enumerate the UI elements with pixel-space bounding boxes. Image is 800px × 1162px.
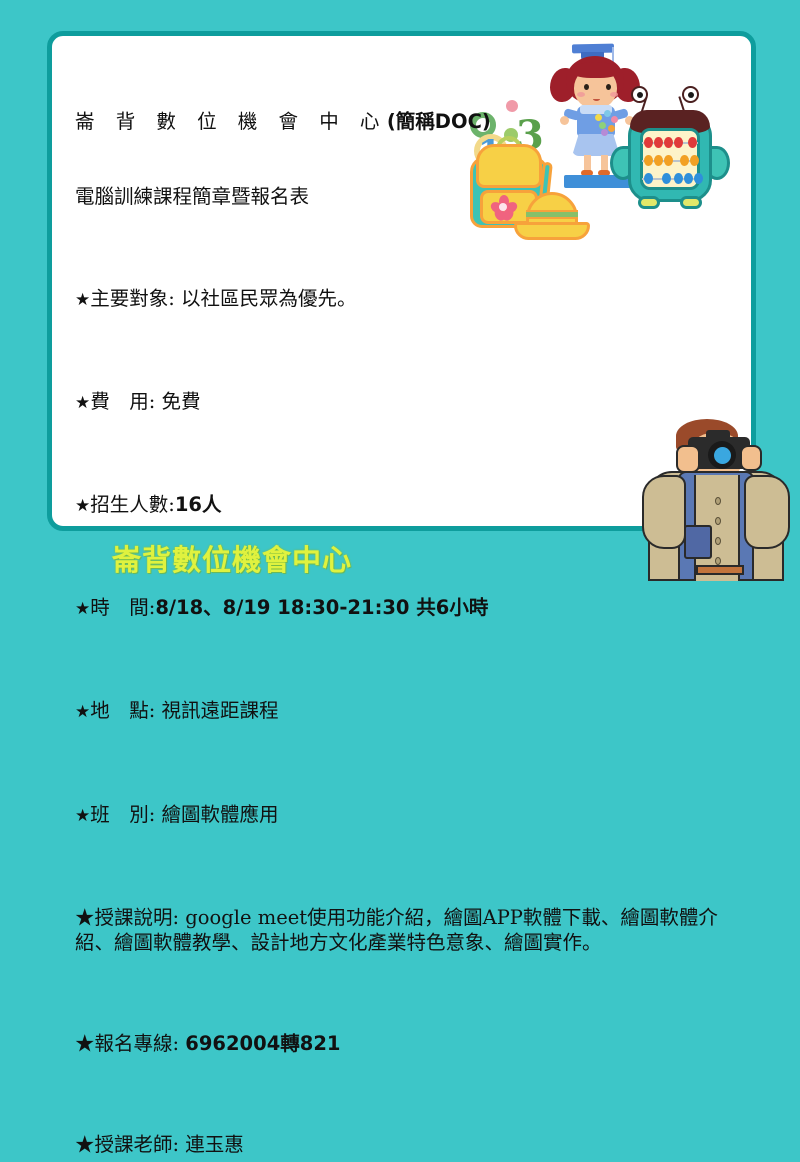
- title-org-name: 崙 背 數 位 機 會 中 心: [75, 110, 387, 133]
- hotline-value: 6962004轉821: [185, 1032, 340, 1055]
- star-bullet-icon: ★: [75, 702, 90, 722]
- info-label: 時 間:: [90, 596, 155, 619]
- info-value: 視訊遠距課程: [162, 699, 279, 722]
- teacher-value: 連玉惠: [185, 1133, 244, 1156]
- info-value: 8/18、8/19 18:30-21:30 共6小時: [155, 596, 488, 619]
- teacher-label: ★授課老師:: [75, 1133, 185, 1156]
- photographer-arm-right: [744, 475, 790, 549]
- info-value: 以社區民眾為優先。: [181, 287, 357, 310]
- star-bullet-icon: ★: [75, 393, 90, 413]
- info-label: 地 點:: [90, 699, 161, 722]
- info-label: 招生人數:: [90, 493, 175, 516]
- star-bullet-icon: ★: [75, 806, 90, 826]
- info-value: 免費: [162, 390, 201, 413]
- title-line-1: 崙 背 數 位 機 會 中 心(簡稱DOC): [75, 109, 735, 134]
- star-bullet-icon: ★: [75, 599, 90, 619]
- info-label: 主要對象:: [90, 287, 181, 310]
- info-row-teacher: ★授課老師: 連玉惠: [75, 1132, 735, 1157]
- info-value: 16人: [175, 493, 222, 516]
- photographer-hand-right: [740, 445, 762, 471]
- info-row-teaching-note: ★授課說明: google meet使用功能介紹，繪圖APP軟體下載、繪圖軟體介…: [75, 905, 735, 956]
- hotline-label: ★報名專線:: [75, 1032, 185, 1055]
- title-line-2: 電腦訓練課程簡章暨報名表: [75, 184, 735, 209]
- info-row-target: ★主要對象: 以社區民眾為優先。: [75, 286, 735, 313]
- star-bullet-icon: ★: [75, 496, 90, 516]
- info-row-class: ★班 別: 繪圖軟體應用: [75, 802, 735, 829]
- info-row-fee: ★費 用: 免費: [75, 389, 735, 416]
- poster-canvas: 3 1 2: [0, 0, 800, 581]
- info-label: 費 用:: [90, 390, 161, 413]
- poster-text-block: 崙 背 數 位 機 會 中 心(簡稱DOC) 電腦訓練課程簡章暨報名表 ★主要對…: [75, 58, 735, 1162]
- teaching-note-label: ★授課說明:: [75, 906, 185, 929]
- footer-caption: 崙背數位機會中心: [112, 537, 352, 579]
- info-value: 繪圖軟體應用: [162, 803, 279, 826]
- info-row-location: ★地 點: 視訊遠距課程: [75, 698, 735, 725]
- info-label: 班 別:: [90, 803, 161, 826]
- info-row-hotline: ★報名專線: 6962004轉821: [75, 1031, 735, 1056]
- info-row-capacity: ★招生人數:16人: [75, 492, 735, 519]
- title-abbrev: (簡稱DOC): [387, 110, 491, 133]
- star-bullet-icon: ★: [75, 290, 90, 310]
- info-row-time: ★時 間:8/18、8/19 18:30-21:30 共6小時: [75, 595, 735, 622]
